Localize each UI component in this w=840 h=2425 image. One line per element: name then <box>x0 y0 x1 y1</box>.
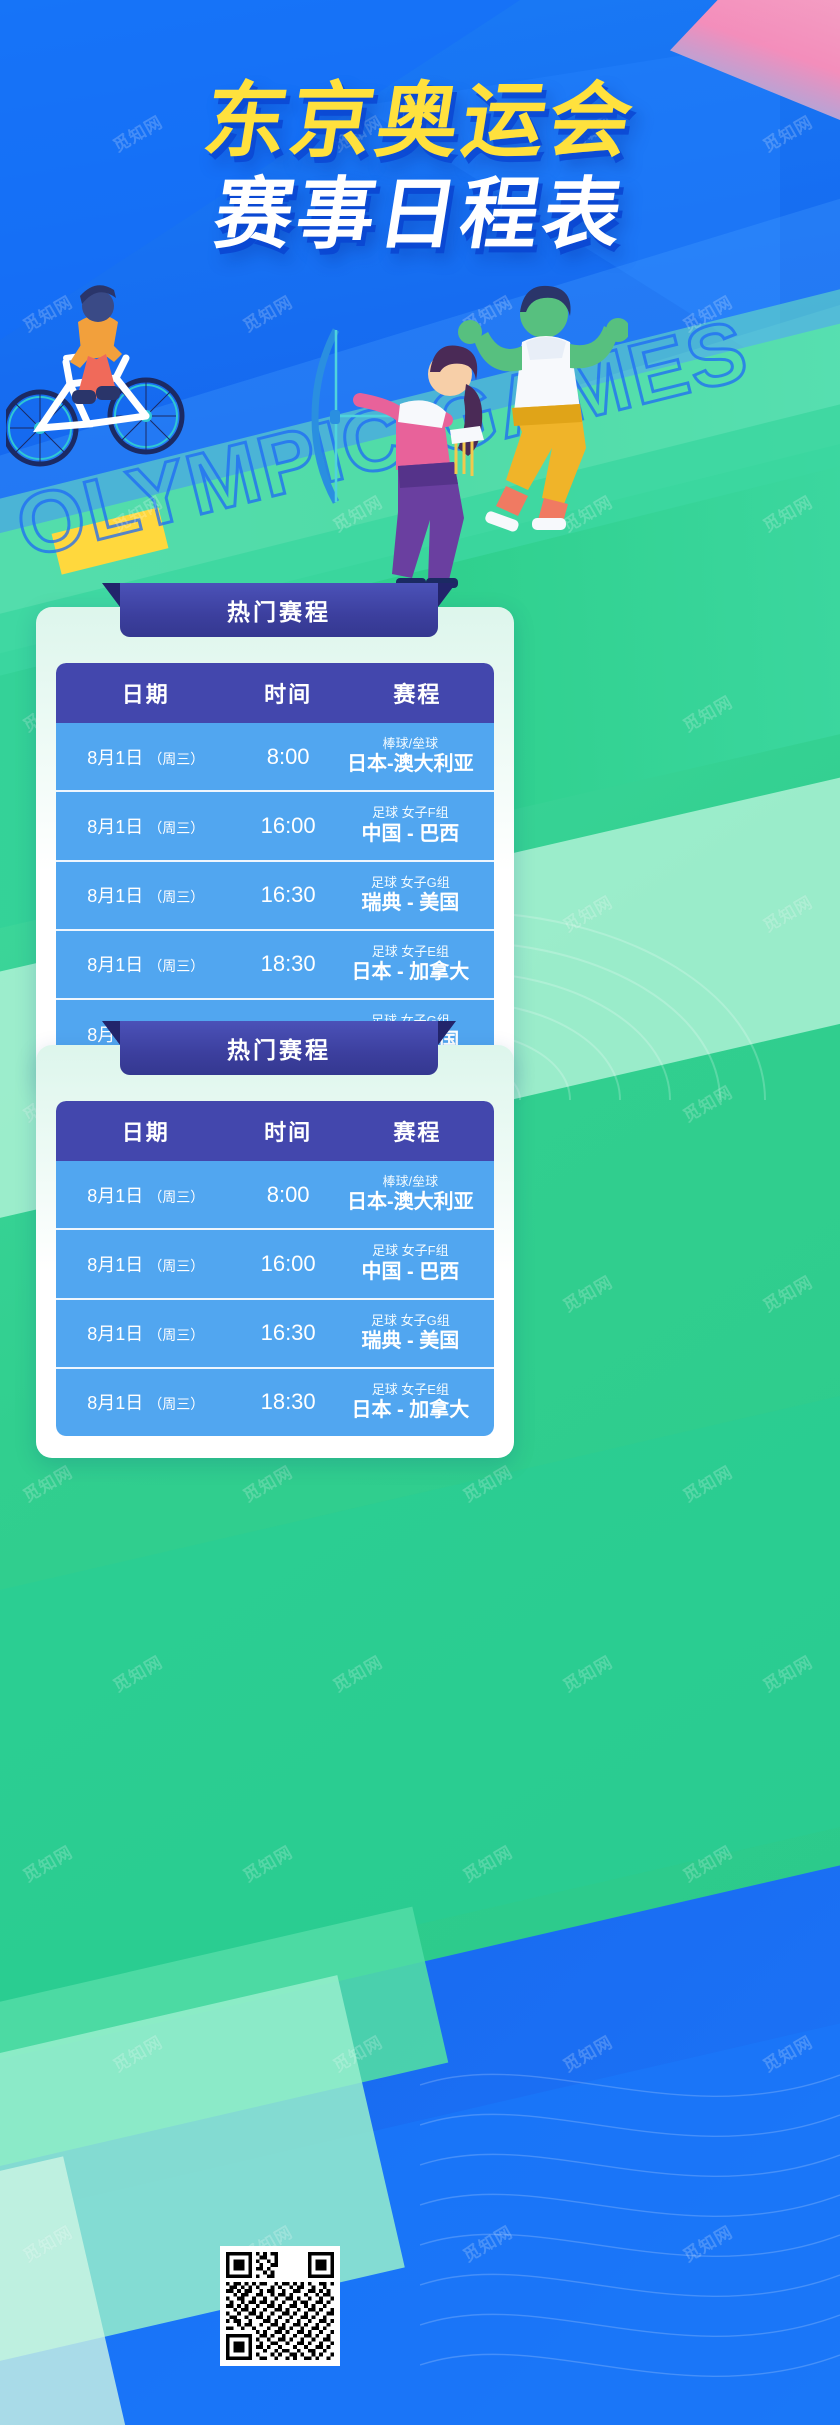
table-header-row: 日期 时间 赛程 <box>56 1101 494 1161</box>
cell-date: 8月1日 （周三） <box>56 861 236 930</box>
section-ribbon-1: 热门赛程 <box>120 583 438 637</box>
cell-time: 8:00 <box>236 723 341 791</box>
column-header-time: 时间 <box>236 1101 341 1161</box>
cell-event: 足球 女子E组 日本 - 加拿大 <box>341 930 494 999</box>
table-header-row: 日期 时间 赛程 <box>56 663 494 723</box>
column-header-date: 日期 <box>56 1101 236 1161</box>
page-subtitle: 赛事日程表 <box>0 173 840 257</box>
cell-event: 足球 女子G组 瑞典 - 美国 <box>341 861 494 930</box>
cell-time: 8:00 <box>236 1161 341 1229</box>
schedule-card-2: 热门赛程 日期 时间 赛程 8月1日 （周三） 8:00 棒球/垒球 日本-澳大… <box>36 1045 514 1458</box>
runner-illustration <box>448 272 628 557</box>
page-title: 东京奥运会 <box>0 78 840 167</box>
section-ribbon-2: 热门赛程 <box>120 1021 438 1075</box>
title-block: 东京奥运会 赛事日程表 <box>0 78 840 257</box>
cell-event: 足球 女子F组 中国 - 巴西 <box>341 791 494 860</box>
cell-date: 8月1日 （周三） <box>56 791 236 860</box>
table-row[interactable]: 8月1日 （周三） 8:00 棒球/垒球 日本-澳大利亚 <box>56 1161 494 1229</box>
table-row[interactable]: 8月1日 （周三） 8:00 棒球/垒球 日本-澳大利亚 <box>56 723 494 791</box>
cell-time: 16:30 <box>236 861 341 930</box>
cell-date: 8月1日 （周三） <box>56 930 236 999</box>
cell-date: 8月1日 （周三） <box>56 1368 236 1436</box>
cell-event: 棒球/垒球 日本-澳大利亚 <box>341 1161 494 1229</box>
cell-date: 8月1日 （周三） <box>56 1229 236 1298</box>
cell-event: 棒球/垒球 日本-澳大利亚 <box>341 723 494 791</box>
cell-date: 8月1日 （周三） <box>56 723 236 791</box>
cell-time: 16:00 <box>236 791 341 860</box>
poster-root: OLYMPIC GAMES 东京奥运会 赛事日程表 <box>0 0 840 2425</box>
schedule-table-1: 日期 时间 赛程 8月1日 （周三） 8:00 棒球/垒球 日本-澳大利亚 8月… <box>56 663 494 1067</box>
table-row[interactable]: 8月1日 （周三） 16:00 足球 女子F组 中国 - 巴西 <box>56 1229 494 1298</box>
table-row[interactable]: 8月1日 （周三） 18:30 足球 女子E组 日本 - 加拿大 <box>56 930 494 999</box>
cell-event: 足球 女子E组 日本 - 加拿大 <box>341 1368 494 1436</box>
cell-time: 18:30 <box>236 1368 341 1436</box>
column-header-event: 赛程 <box>341 663 494 723</box>
cell-event: 足球 女子F组 中国 - 巴西 <box>341 1229 494 1298</box>
table-row[interactable]: 8月1日 （周三） 18:30 足球 女子E组 日本 - 加拿大 <box>56 1368 494 1436</box>
cell-date: 8月1日 （周三） <box>56 1161 236 1229</box>
qr-code[interactable] <box>220 2246 340 2366</box>
column-header-time: 时间 <box>236 663 341 723</box>
cell-event: 足球 女子G组 瑞典 - 美国 <box>341 1299 494 1368</box>
cell-time: 16:30 <box>236 1299 341 1368</box>
cell-time: 16:00 <box>236 1229 341 1298</box>
table-row[interactable]: 8月1日 （周三） 16:30 足球 女子G组 瑞典 - 美国 <box>56 1299 494 1368</box>
cell-time: 18:30 <box>236 930 341 999</box>
schedule-card-1: 热门赛程 日期 时间 赛程 8月1日 （周三） 8:00 棒球/垒球 日本-澳大… <box>36 607 514 1089</box>
table-row[interactable]: 8月1日 （周三） 16:30 足球 女子G组 瑞典 - 美国 <box>56 861 494 930</box>
wave-decoration <box>420 2045 840 2425</box>
cyclist-illustration <box>6 278 196 483</box>
schedule-table-2: 日期 时间 赛程 8月1日 （周三） 8:00 棒球/垒球 日本-澳大利亚 8月… <box>56 1101 494 1436</box>
cell-date: 8月1日 （周三） <box>56 1299 236 1368</box>
column-header-date: 日期 <box>56 663 236 723</box>
column-header-event: 赛程 <box>341 1101 494 1161</box>
table-row[interactable]: 8月1日 （周三） 16:00 足球 女子F组 中国 - 巴西 <box>56 791 494 860</box>
